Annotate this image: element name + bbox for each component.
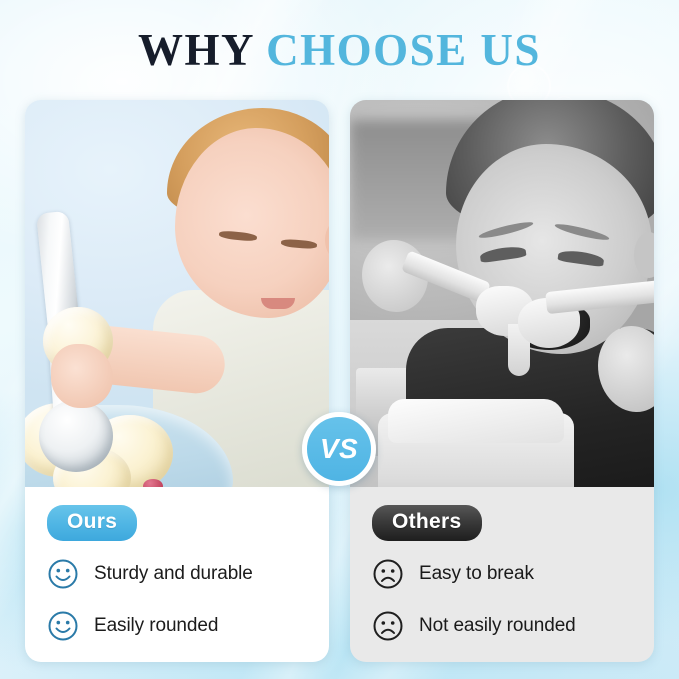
child-hand-shape — [51, 344, 113, 408]
smiley-face-icon — [47, 610, 79, 642]
others-badge: Others — [372, 505, 482, 541]
scoop-bowl-head — [39, 400, 113, 472]
others-product-photo — [350, 100, 654, 487]
vs-divider-badge: VS — [302, 412, 376, 486]
ice-cream-in-tub-shape — [388, 399, 564, 443]
vs-label: VS — [320, 433, 358, 465]
feature-label: Easily rounded — [94, 615, 218, 637]
feature-label: Easy to break — [419, 563, 534, 585]
others-feature-list: Easy to break Not easily rounded — [372, 558, 632, 642]
ours-feature-list: Sturdy and durable Easily rounded — [47, 558, 307, 642]
list-item: Not easily rounded — [372, 610, 632, 642]
others-card: Others Easy to break — [350, 100, 654, 662]
page-title: WHY CHOOSE US — [0, 24, 679, 76]
sad-face-icon — [372, 558, 404, 590]
sad-face-icon — [372, 610, 404, 642]
page-title-dark-part: WHY — [138, 25, 253, 75]
page-title-accent-part: CHOOSE US — [266, 25, 541, 75]
ours-product-photo — [25, 100, 329, 487]
ours-card: Ours Sturdy and durable — [25, 100, 329, 662]
list-item: Sturdy and durable — [47, 558, 307, 590]
smiley-face-icon — [47, 558, 79, 590]
feature-label: Sturdy and durable — [94, 563, 253, 585]
others-card-body: Others Easy to break — [350, 487, 654, 662]
list-item: Easy to break — [372, 558, 632, 590]
list-item: Easily rounded — [47, 610, 307, 642]
ours-card-body: Ours Sturdy and durable — [25, 487, 329, 662]
comparison-container: Ours Sturdy and durable — [25, 100, 654, 662]
feature-label: Not easily rounded — [419, 615, 576, 637]
cherry-garnish-shape — [143, 479, 163, 487]
ours-badge: Ours — [47, 505, 137, 541]
